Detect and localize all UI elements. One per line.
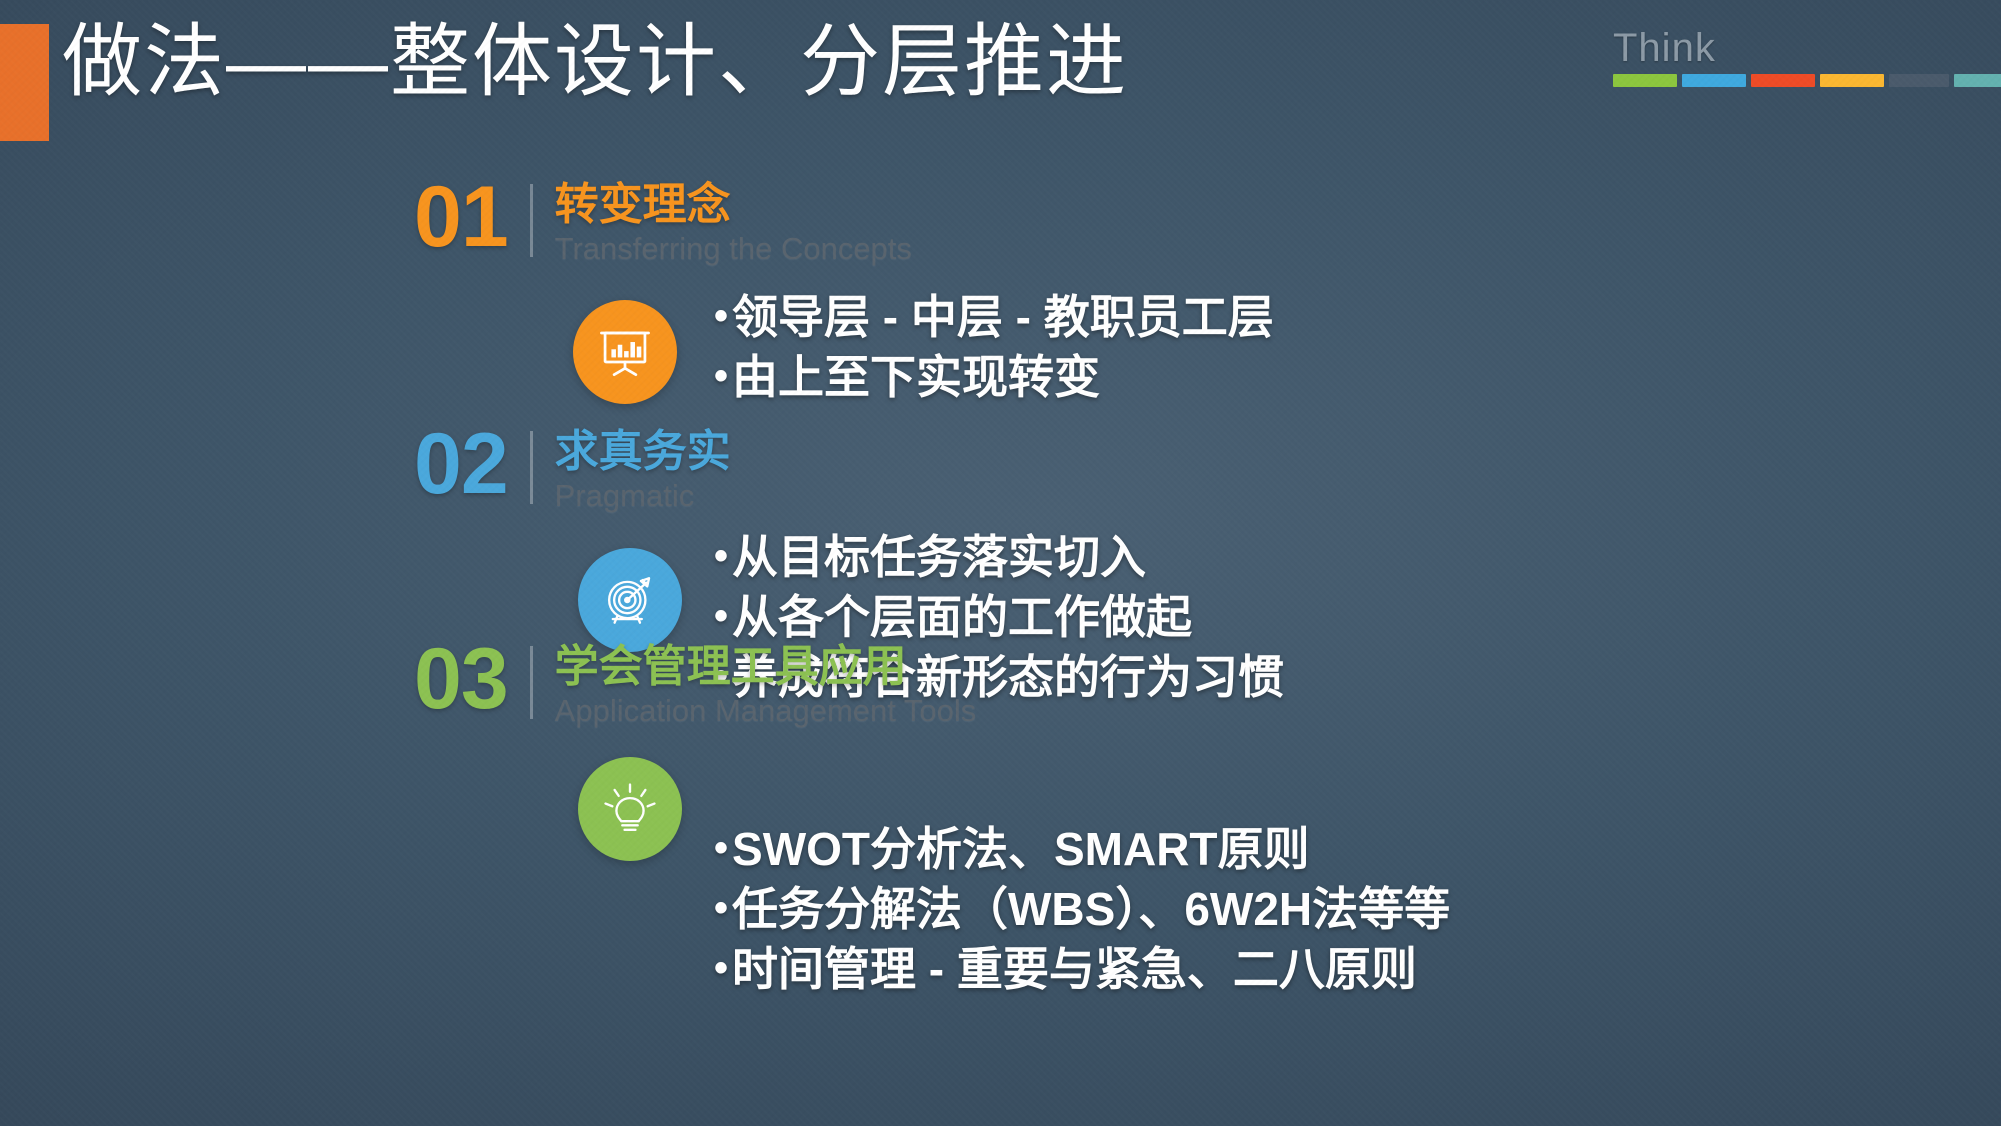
- bar-blue: [1682, 74, 1746, 87]
- section-01-title-cn: 转变理念: [555, 180, 912, 229]
- section-03-icon-badge: [578, 757, 682, 861]
- section-02-title-cn: 求真务实: [555, 427, 731, 476]
- bullet-marker: •: [714, 356, 728, 396]
- bullet-marker: •: [714, 536, 728, 576]
- page-title: 做法——整体设计、分层推进: [62, 15, 1128, 109]
- section-03-title-cn: 学会管理工具应用: [555, 642, 977, 691]
- section-03-title-en: Application Management Tools: [555, 693, 977, 729]
- bullet-item: • 时间管理 - 重要与紧急、二八原则: [714, 940, 1450, 1000]
- title-accent-bar: [0, 24, 49, 141]
- bullet-text: 从各个层面的工作做起: [732, 588, 1192, 648]
- lightbulb-icon: [601, 780, 659, 838]
- section-02-number: 02: [414, 425, 508, 504]
- bullet-text: 由上至下实现转变: [732, 348, 1100, 408]
- section-01-header: 01 转变理念 Transferring the Concepts: [414, 178, 912, 267]
- target-arrow-icon: [601, 571, 659, 629]
- bullet-marker: •: [714, 888, 728, 928]
- section-01-icon-badge: [573, 300, 677, 404]
- bullet-item: • 从各个层面的工作做起: [714, 588, 1284, 648]
- think-logo: Think: [1581, 26, 2001, 106]
- bullet-text: 任务分解法（WBS）、6W2H法等等: [732, 880, 1450, 940]
- slide-canvas: 做法——整体设计、分层推进 Think 01 转变理念 Transferring…: [0, 0, 2001, 1126]
- section-02-divider: [530, 431, 533, 504]
- bullet-text: 从目标任务落实切入: [732, 528, 1146, 588]
- section-01-bullets: • 领导层 - 中层 - 教职员工层 • 由上至下实现转变: [714, 288, 1274, 408]
- bullet-text: 时间管理 - 重要与紧急、二八原则: [732, 940, 1417, 1000]
- bullet-marker: •: [714, 828, 728, 868]
- bullet-text: 领导层 - 中层 - 教职员工层: [732, 288, 1274, 348]
- bar-yellow: [1820, 74, 1884, 87]
- bar-slate: [1889, 74, 1949, 87]
- logo-wordmark: Think: [1613, 26, 1716, 71]
- section-01-number: 01: [414, 178, 508, 257]
- section-02-title-en: Pragmatic: [555, 478, 731, 514]
- section-01-divider: [530, 184, 533, 257]
- section-03-number: 03: [414, 640, 508, 719]
- bar-teal: [1954, 74, 2001, 87]
- bullet-marker: •: [714, 296, 728, 336]
- logo-color-bars: [1613, 74, 2001, 87]
- bullet-item: • 由上至下实现转变: [714, 348, 1274, 408]
- bullet-marker: •: [714, 596, 728, 636]
- bar-red: [1751, 74, 1815, 87]
- section-03-divider: [530, 646, 533, 719]
- bullet-item: • 从目标任务落实切入: [714, 528, 1284, 588]
- section-02-icon-badge: [578, 548, 682, 652]
- section-01-title-en: Transferring the Concepts: [555, 231, 912, 267]
- bullet-item: • 任务分解法（WBS）、6W2H法等等: [714, 880, 1450, 940]
- section-02-header: 02 求真务实 Pragmatic: [414, 425, 731, 514]
- bullet-marker: •: [714, 948, 728, 988]
- bullet-item: • SWOT分析法、SMART原则: [714, 820, 1450, 880]
- bar-green: [1613, 74, 1677, 87]
- section-03-header: 03 学会管理工具应用 Application Management Tools: [414, 640, 976, 729]
- section-03-bullets: • SWOT分析法、SMART原则 • 任务分解法（WBS）、6W2H法等等 •…: [714, 820, 1450, 999]
- presentation-chart-icon: [596, 323, 654, 381]
- bullet-text: SWOT分析法、SMART原则: [732, 820, 1310, 880]
- bullet-item: • 领导层 - 中层 - 教职员工层: [714, 288, 1274, 348]
